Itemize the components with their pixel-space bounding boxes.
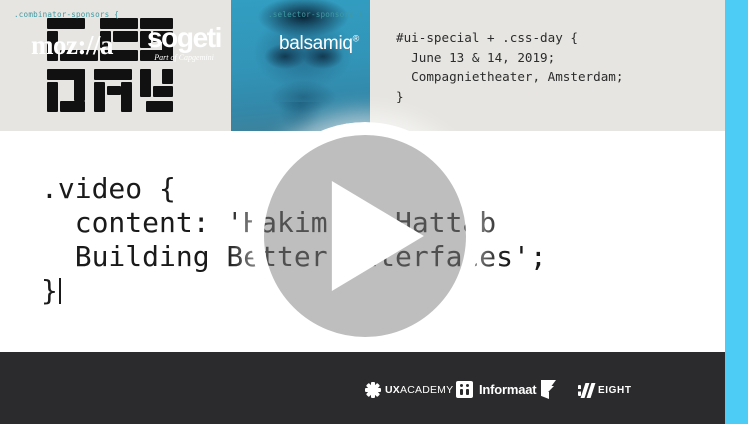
eight-slash-icon bbox=[578, 382, 593, 398]
play-button[interactable] bbox=[251, 122, 479, 350]
video-title-line-4: } bbox=[41, 274, 58, 307]
informaat-wordmark: Informaat bbox=[479, 382, 536, 397]
sponsor-logo-eight[interactable]: EIGHT bbox=[578, 382, 632, 398]
balsamiq-wordmark: balsamiq bbox=[279, 33, 353, 54]
play-triangle-icon bbox=[332, 181, 424, 291]
cyan-accent-rail bbox=[725, 0, 748, 424]
sponsor-logo-sogeti[interactable]: sogeti Part of Capgemini bbox=[147, 24, 221, 62]
combinator-sponsors-label: .combinator-sponsors { bbox=[14, 10, 119, 19]
ux-academy-wordmark-bold: UX bbox=[385, 384, 400, 396]
ux-academy-star-icon bbox=[365, 382, 381, 398]
sponsor-logo-balsamiq[interactable]: balsamiq® bbox=[279, 33, 359, 55]
sponsor-logo-informaat[interactable]: Informaat bbox=[456, 381, 536, 398]
video-title-line-1: .video { bbox=[41, 172, 176, 205]
sponsor-logo-mozilla[interactable]: moz://a bbox=[31, 30, 113, 61]
video-player[interactable]: #ui-special + .css-day { June 13 & 14, 2… bbox=[0, 0, 751, 424]
sponsor-logo-ux-academy[interactable]: UXACADEMY bbox=[365, 382, 453, 398]
informaat-square-icon bbox=[456, 381, 473, 398]
sogeti-wordmark: sogeti bbox=[147, 24, 221, 52]
sponsor-logo-framer-icon[interactable] bbox=[541, 380, 556, 399]
ux-academy-wordmark-rest: ACADEMY bbox=[400, 384, 453, 396]
speaker-portrait bbox=[231, 0, 370, 131]
sogeti-tagline: Part of Capgemini bbox=[147, 53, 221, 62]
selector-sponsors-label: .selector-sponsors { bbox=[268, 10, 363, 19]
event-info-code: #ui-special + .css-day { June 13 & 14, 2… bbox=[396, 28, 623, 106]
text-caret bbox=[59, 278, 61, 304]
eight-wordmark: EIGHT bbox=[598, 385, 632, 396]
ux-academy-wordmark: UXACADEMY bbox=[385, 384, 453, 396]
